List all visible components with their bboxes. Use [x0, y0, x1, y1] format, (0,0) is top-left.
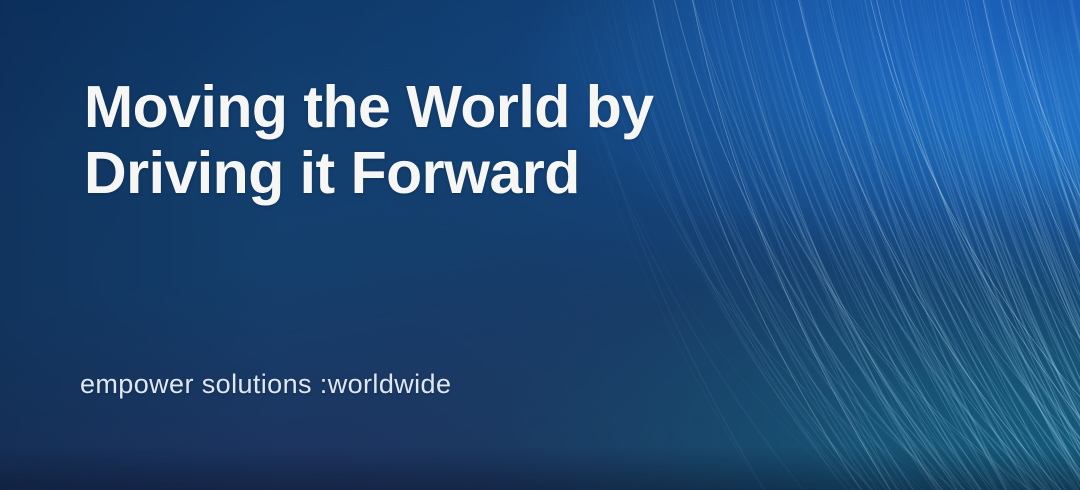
tagline: empower solutions :worldwide [80, 369, 451, 400]
brand-banner: Moving the World by Driving it Forward e… [0, 0, 1080, 490]
page-title: Moving the World by Driving it Forward [84, 74, 654, 206]
